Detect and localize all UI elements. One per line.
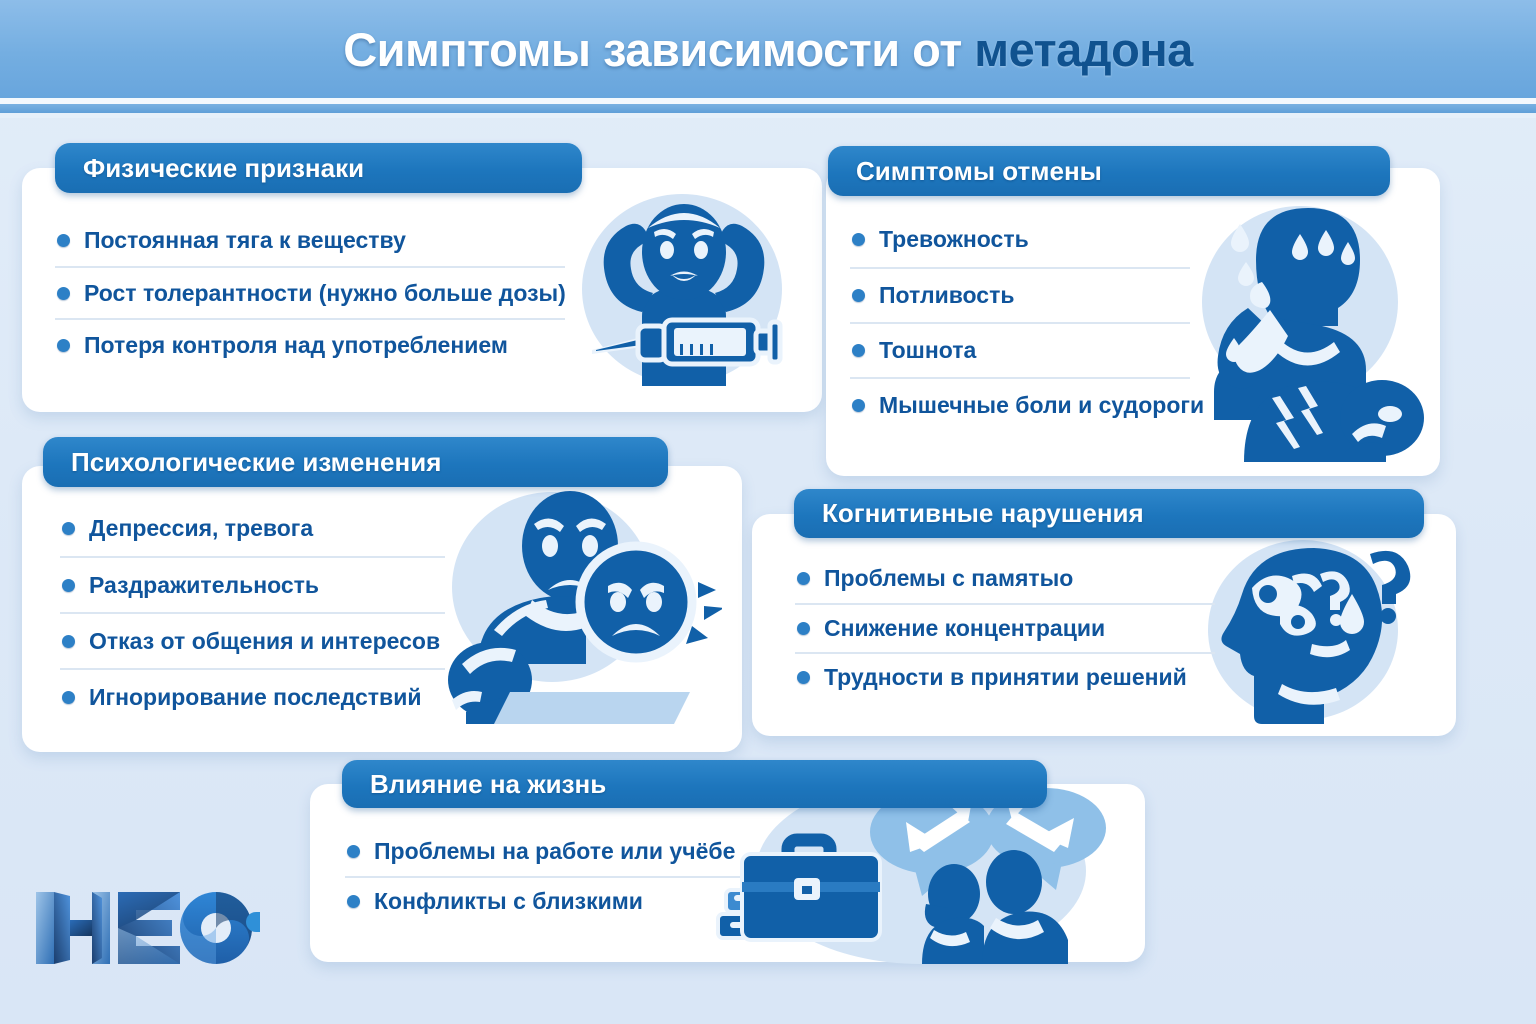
list-item[interactable]: Снижение концентрации: [795, 603, 1215, 652]
list-item-label: Раздражительность: [89, 572, 319, 599]
list-item-label: Мышечные боли и судороги: [879, 392, 1204, 419]
list-item-label: Игнорирование последствий: [89, 684, 421, 711]
bullet-icon: [797, 572, 810, 585]
list-life-impact: Проблемы на работе или учёбе Конфликты с…: [345, 827, 740, 925]
list-item[interactable]: Мышечные боли и судороги: [850, 377, 1190, 432]
stressed-person-with-syringe-icon: [570, 184, 800, 389]
card-header-physical-signs[interactable]: Физические признаки: [55, 143, 582, 193]
card-title-label: Когнитивные нарушения: [822, 498, 1144, 529]
bullet-icon: [347, 895, 360, 908]
list-cognitive-impairments: Проблемы с памятыо Снижение концентрации…: [795, 554, 1215, 701]
page-title-accent: метадона: [974, 23, 1193, 76]
bullet-icon: [347, 845, 360, 858]
bullet-icon: [57, 339, 70, 352]
list-item-label: Конфликты с близкими: [374, 888, 643, 915]
card-header-withdrawal-symptoms[interactable]: Симптомы отмены: [828, 146, 1390, 196]
list-item[interactable]: Потливость: [850, 267, 1190, 322]
page-title-primary: Симптомы зависимости от: [343, 23, 974, 76]
bullet-icon: [62, 635, 75, 648]
list-item-label: Постоянная тяга к веществу: [84, 227, 406, 254]
card-title-label: Симптомы отмены: [856, 156, 1102, 187]
list-item-label: Потливость: [879, 282, 1015, 309]
list-item-label: Тошнота: [879, 337, 976, 364]
list-item[interactable]: Раздражительность: [60, 556, 445, 612]
card-title-label: Влияние на жизнь: [370, 769, 606, 800]
list-item-label: Трудности в принятии решений: [824, 664, 1187, 691]
bullet-icon: [852, 344, 865, 357]
list-item-label: Проблемы на работе или учёбе: [374, 838, 735, 865]
bullet-icon: [57, 234, 70, 247]
bullet-icon: [797, 622, 810, 635]
list-physical-signs: Постоянная тяга к веществу Рост толерант…: [55, 214, 565, 370]
card-title-label: Психологические изменения: [71, 447, 441, 478]
list-item[interactable]: Конфликты с близкими: [345, 876, 740, 925]
card-header-life-impact[interactable]: Влияние на жизнь: [342, 760, 1047, 808]
list-item[interactable]: Депрессия, тревога: [60, 500, 445, 556]
list-item-label: Потеря контроля над употреблением: [84, 332, 508, 359]
page-title: Симптомы зависимости от метадона: [343, 22, 1193, 77]
list-item-label: Тревожность: [879, 226, 1029, 253]
list-item[interactable]: Рост толерантности (нужно больше дозы): [55, 266, 565, 318]
bullet-icon: [852, 399, 865, 412]
bullet-icon: [62, 522, 75, 535]
bullet-icon: [57, 287, 70, 300]
list-item-label: Проблемы с памятыо: [824, 565, 1073, 592]
sweating-person-with-cramps-icon: [1184, 190, 1436, 462]
card-title-label: Физические признаки: [83, 153, 364, 184]
list-item-label: Депрессия, тревога: [89, 515, 313, 542]
bullet-icon: [62, 579, 75, 592]
list-item[interactable]: Игнорирование последствий: [60, 668, 445, 724]
bullet-icon: [852, 289, 865, 302]
list-item[interactable]: Проблемы на работе или учёбе: [345, 827, 740, 876]
bullet-icon: [852, 233, 865, 246]
bullet-icon: [797, 671, 810, 684]
card-header-cognitive-impairments[interactable]: Когнитивные нарушения: [794, 489, 1424, 538]
head-with-brain-question-icon: [1194, 532, 1424, 728]
list-item[interactable]: Трудности в принятии решений: [795, 652, 1215, 701]
list-item-label: Рост толерантности (нужно больше дозы): [84, 280, 566, 307]
list-item[interactable]: Потеря контроля над употреблением: [55, 318, 565, 370]
header-divider-pale: [0, 113, 1536, 118]
sad-and-angry-faces-icon: [422, 484, 722, 724]
list-item[interactable]: Отказ от общения и интересов: [60, 612, 445, 668]
list-withdrawal-symptoms: Тревожность Потливость Тошнота Мышечные …: [850, 212, 1190, 432]
header-divider-blue: [0, 104, 1536, 113]
list-item[interactable]: Постоянная тяга к веществу: [55, 214, 565, 266]
list-item-label: Снижение концентрации: [824, 615, 1105, 642]
list-item-label: Отказ от общения и интересов: [89, 628, 440, 655]
bullet-icon: [62, 691, 75, 704]
infographic-page: Симптомы зависимости от метадона: [0, 0, 1536, 1024]
card-header-psychological-changes[interactable]: Психологические изменения: [43, 437, 668, 487]
logo-mark: [30, 884, 260, 972]
list-item[interactable]: Тревожность: [850, 212, 1190, 267]
neo-plus-logo[interactable]: НЕО+: [30, 884, 260, 972]
list-item[interactable]: Проблемы с памятыо: [795, 554, 1215, 603]
list-psychological-changes: Депрессия, тревога Раздражительность Отк…: [60, 500, 445, 724]
list-item[interactable]: Тошнота: [850, 322, 1190, 377]
page-header: Симптомы зависимости от метадона: [0, 0, 1536, 98]
